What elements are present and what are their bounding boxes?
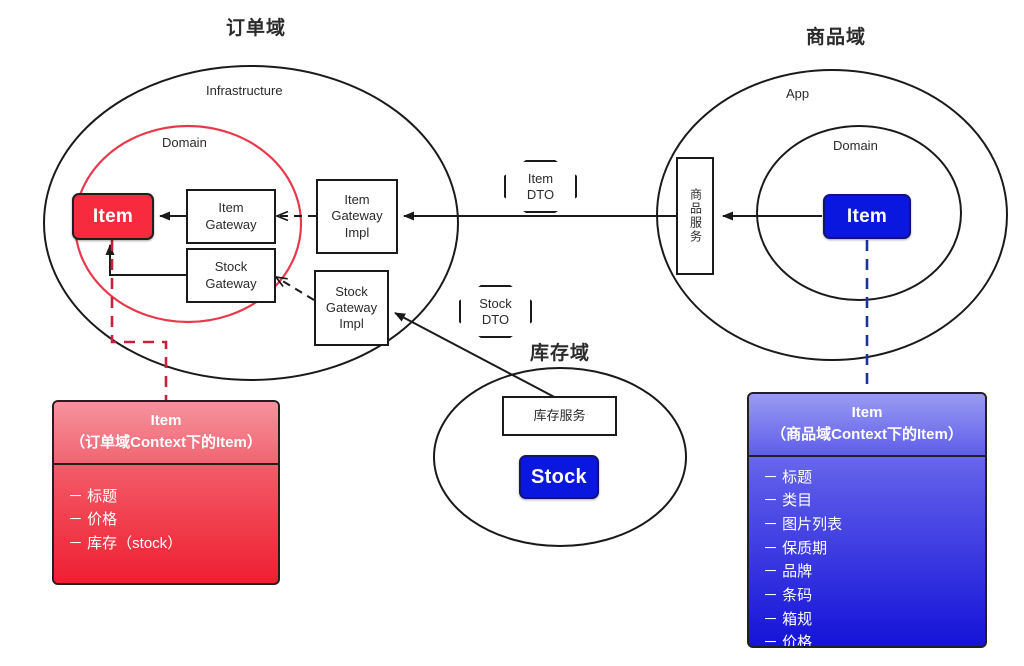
attr-row: － 保质期: [763, 537, 985, 561]
attr-row: － 箱规: [763, 608, 985, 632]
label-order-domain: Domain: [162, 135, 207, 150]
attr-row: － 品牌: [763, 560, 985, 584]
node-stock-gateway-impl[interactable]: Stock Gateway Impl: [314, 270, 389, 346]
node-product-service[interactable]: 商品服务: [676, 157, 714, 275]
attr-row: － 价格: [763, 631, 985, 648]
card-order-item[interactable]: Item （订单域Context下的Item） － 标题 － 价格 － 库存（s…: [52, 400, 280, 585]
card-product-item-header: Item （商品域Context下的Item）: [749, 394, 985, 457]
arrow-stockgateway-to-item: [110, 245, 186, 275]
entity-stock[interactable]: Stock: [519, 455, 599, 499]
card-order-item-title: Item: [60, 410, 272, 432]
title-order-domain: 订单域: [226, 13, 286, 40]
card-order-item-attributes: － 标题 － 价格 － 库存（stock）: [54, 465, 278, 568]
diagram-canvas: 订单域 商品域 库存域 Infrastructure Domain App Do…: [0, 0, 1024, 666]
stock-dto[interactable]: Stock DTO: [459, 285, 532, 338]
card-product-item[interactable]: Item （商品域Context下的Item） － 标题 － 类目 － 图片列表…: [747, 392, 987, 648]
card-product-item-subtitle: （商品域Context下的Item）: [755, 424, 979, 446]
label-order-infrastructure: Infrastructure: [206, 83, 283, 98]
attr-row: － 类目: [763, 489, 985, 513]
card-product-item-attributes: － 标题 － 类目 － 图片列表 － 保质期 － 品牌 － 条码 － 箱规 － …: [749, 457, 985, 649]
title-stock-domain: 库存域: [530, 338, 590, 365]
label-product-app: App: [786, 86, 809, 101]
attr-row: － 库存（stock）: [68, 532, 278, 556]
attr-row: － 价格: [68, 508, 278, 532]
card-product-item-title: Item: [755, 402, 979, 424]
node-stock-service[interactable]: 库存服务: [502, 396, 617, 436]
title-product-domain: 商品域: [806, 22, 866, 49]
attr-row: － 条码: [763, 584, 985, 608]
attr-row: － 图片列表: [763, 513, 985, 537]
attr-row: － 标题: [763, 466, 985, 490]
card-order-item-subtitle: （订单域Context下的Item）: [60, 432, 272, 454]
item-dto[interactable]: Item DTO: [504, 160, 577, 213]
card-order-item-header: Item （订单域Context下的Item）: [54, 402, 278, 465]
attr-row: － 标题: [68, 485, 278, 509]
label-product-domain: Domain: [833, 138, 878, 153]
entity-order-item[interactable]: Item: [72, 193, 154, 240]
node-stock-gateway[interactable]: Stock Gateway: [186, 248, 276, 303]
entity-product-item[interactable]: Item: [823, 194, 911, 239]
node-item-gateway[interactable]: Item Gateway: [186, 189, 276, 244]
dashed-link-order-item-to-card: [112, 240, 166, 400]
node-item-gateway-impl[interactable]: Item Gateway Impl: [316, 179, 398, 254]
